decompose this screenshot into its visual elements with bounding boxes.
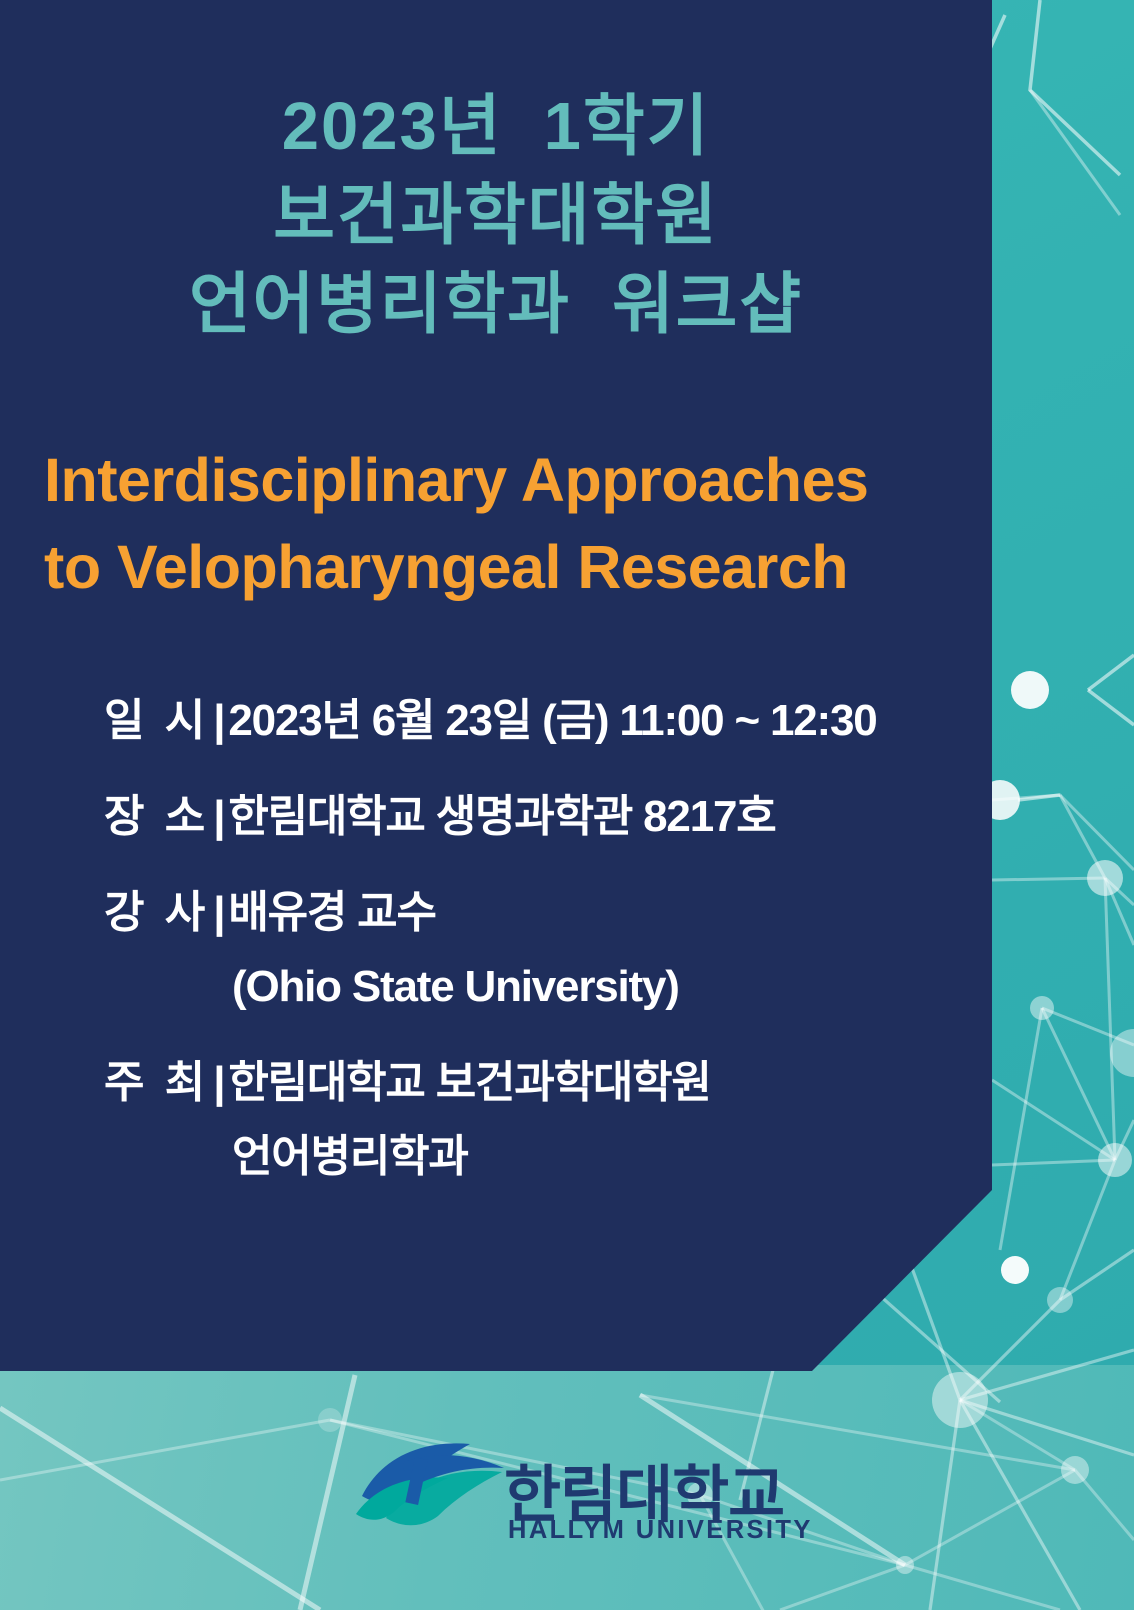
hallym-university-logo: 한림대학교 HALLYM UNIVERSITY: [352, 1418, 782, 1568]
detail-separator: |: [209, 888, 228, 937]
details-list: 일 시|2023년 6월 23일 (금) 11:00 ~ 12:30 장 소|한…: [104, 695, 974, 1182]
detail-label-speaker: 강 사: [104, 888, 209, 937]
detail-row-organizer: 주 최|한림대학교 보건과학대학원 언어병리학과: [104, 1057, 974, 1183]
korean-title-line-2: 보건과학대학원: [0, 171, 992, 260]
korean-title: 2023년 1학기 보건과학대학원 언어병리학과 워크샵: [0, 82, 992, 349]
detail-row-speaker: 강 사|배유경 교수 (Ohio State University): [104, 887, 974, 1013]
english-title-line-2: to Velopharyngeal Research: [44, 524, 948, 611]
detail-label-datetime: 일 시: [104, 696, 209, 745]
detail-value-organizer-department: 언어병리학과: [104, 1131, 974, 1183]
korean-title-line-3: 언어병리학과 워크샵: [0, 260, 992, 349]
detail-separator: |: [209, 696, 228, 745]
detail-value-organizer: 한림대학교 보건과학대학원: [228, 1058, 710, 1107]
detail-label-venue: 장 소: [104, 792, 209, 841]
english-title-line-1: Interdisciplinary Approaches: [44, 437, 948, 524]
detail-row-venue: 장 소|한림대학교 생명과학관 8217호: [104, 791, 974, 843]
detail-separator: |: [209, 1058, 228, 1107]
detail-value-speaker: 배유경 교수: [228, 888, 435, 937]
english-title: Interdisciplinary Approaches to Velophar…: [44, 437, 948, 610]
detail-value-venue: 한림대학교 생명과학관 8217호: [228, 792, 775, 841]
logo-english-name: HALLYM UNIVERSITY: [508, 1516, 813, 1545]
detail-row-datetime: 일 시|2023년 6월 23일 (금) 11:00 ~ 12:30: [104, 695, 974, 747]
detail-separator: |: [209, 792, 228, 841]
poster-content: 2023년 1학기 보건과학대학원 언어병리학과 워크샵 Interdiscip…: [0, 0, 992, 1371]
workshop-poster: 2023년 1학기 보건과학대학원 언어병리학과 워크샵 Interdiscip…: [0, 0, 1134, 1610]
detail-label-organizer: 주 최: [104, 1058, 209, 1107]
korean-title-line-1: 2023년 1학기: [0, 82, 992, 171]
hallym-wave-mark-icon: [352, 1422, 512, 1532]
detail-value-speaker-affiliation: (Ohio State University): [104, 961, 974, 1013]
detail-value-datetime: 2023년 6월 23일 (금) 11:00 ~ 12:30: [228, 696, 876, 745]
